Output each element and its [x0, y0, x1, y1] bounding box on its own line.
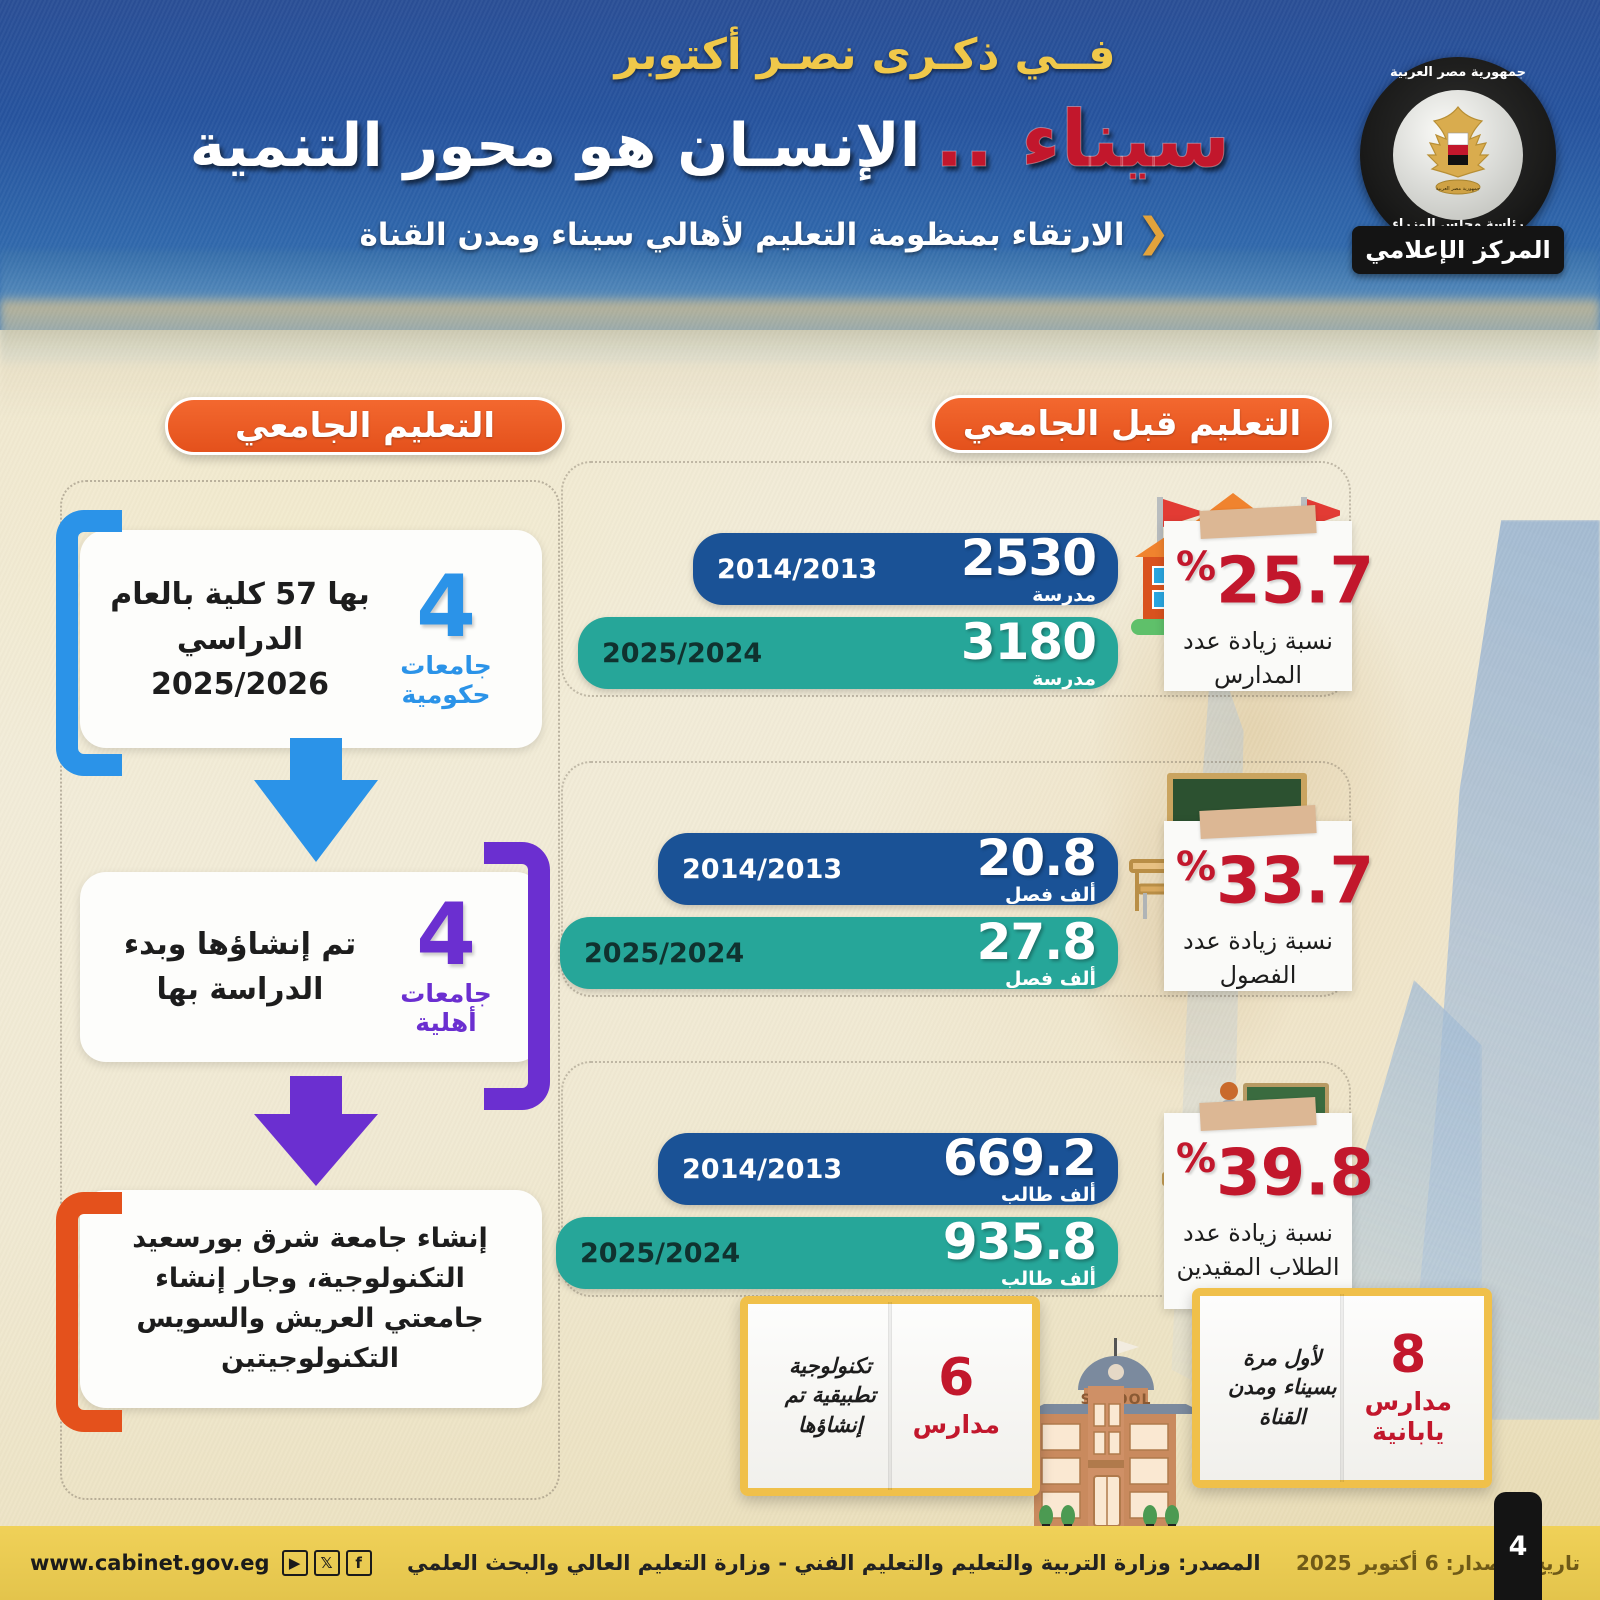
stat-group-schools: 2530 مدرسة 2014/2013 3180 مدرسة 2025/202… [550, 455, 1350, 705]
students-new-unit: ألف طالب [943, 1270, 1096, 1289]
title-sub-text: الإنسـان هو محور التنمية [190, 111, 921, 181]
header-title: سيناء .. الإنسـان هو محور التنمية [150, 95, 1270, 185]
footer: تاريخ الإصدار: 6 أكتوبر 2025 المصدر: وزا… [0, 1526, 1600, 1600]
arrow-down-purple-icon [254, 1114, 378, 1186]
chevron-left-icon: ❮ [1136, 213, 1170, 253]
schools-percent-number: 25.7 [1216, 544, 1374, 618]
students-percent-symbol: % [1176, 1136, 1216, 1182]
technological-schools-number-group: 6 مدارس [897, 1352, 1016, 1440]
page-number-tab: 4 [1494, 1492, 1542, 1600]
classrooms-new-unit: ألف فصل [977, 970, 1096, 989]
bracket-blue [56, 510, 122, 776]
schools-new-value: 3180 [961, 617, 1096, 667]
tape-icon [1199, 1097, 1316, 1131]
classrooms-new-value-group: 27.8 ألف فصل [977, 917, 1096, 989]
x-twitter-icon[interactable]: 𝕏 [314, 1550, 340, 1576]
header-eyebrow: فــي ذكـرى نصـر أكتوبر [330, 30, 1400, 80]
book-card-japanese-schools[interactable]: 8 مدارس يابانية لأول مرة بسيناء ومدن الق… [1192, 1288, 1492, 1488]
classrooms-percent-number: 33.7 [1216, 844, 1374, 918]
book-card-technological-schools[interactable]: 6 مدارس تكنولوجية تطبيقية تم إنشاؤها [740, 1296, 1040, 1496]
government-universities-stack: 4 جامعاتحكومية [376, 569, 516, 710]
page-number: 4 [1509, 1531, 1528, 1562]
classrooms-new-year: 2025/2024 [584, 938, 744, 969]
technological-schools-number: 6 [897, 1352, 1016, 1404]
students-percent-card: %39.8 نسبة زيادة عدد الطلاب المقيدين بال… [1164, 1113, 1352, 1309]
classrooms-bar-new: 27.8 ألف فصل 2025/2024 [560, 917, 1118, 989]
title-main-text: سيناء .. [934, 95, 1230, 185]
classrooms-old-value: 20.8 [977, 833, 1096, 883]
badge-pre-university-education[interactable]: التعليم قبل الجامعي [932, 395, 1332, 453]
university-card-government[interactable]: 4 جامعاتحكومية بها 57 كلية بالعام الدراس… [80, 530, 542, 748]
schools-new-value-group: 3180 مدرسة [961, 617, 1096, 689]
japanese-schools-number: 8 [1349, 1329, 1468, 1381]
students-bar-old: 669.2 ألف طالب 2014/2013 [658, 1133, 1118, 1205]
bracket-orange [56, 1192, 122, 1432]
schools-percent-symbol: % [1176, 544, 1216, 590]
footer-source: المصدر: وزارة التربية والتعليم والتعليم … [407, 1551, 1261, 1575]
schools-bar-new: 3180 مدرسة 2025/2024 [578, 617, 1118, 689]
footer-right-group: f 𝕏 ▶ www.cabinet.gov.eg [30, 1550, 372, 1576]
students-new-year: 2025/2024 [580, 1238, 740, 1269]
government-universities-text: بها 57 كلية بالعام الدراسي 2025/2026 [98, 572, 376, 707]
students-old-value-group: 669.2 ألف طالب [943, 1133, 1096, 1205]
tape-icon [1199, 505, 1316, 539]
government-universities-label: جامعاتحكومية [376, 652, 516, 710]
stat-group-students: 669.2 ألف طالب 2014/2013 935.8 ألف طالب … [550, 1055, 1350, 1305]
classrooms-percent-value: %33.7 [1176, 847, 1340, 913]
stat-group-classrooms: 20.8 ألف فصل 2014/2013 27.8 ألف فصل 2025… [550, 755, 1350, 1005]
arrow-down-blue-icon [254, 780, 378, 862]
footer-website-url[interactable]: www.cabinet.gov.eg [30, 1551, 270, 1575]
schools-old-unit: مدرسة [961, 586, 1096, 605]
social-links[interactable]: f 𝕏 ▶ [282, 1550, 372, 1576]
cabinet-logo: جمهورية مصر العربية رئاسة مجلس الوزراء ج… [1338, 55, 1578, 280]
book-spine [1340, 1294, 1344, 1482]
schools-bar-old: 2530 مدرسة 2014/2013 [693, 533, 1118, 605]
classrooms-percent-text: نسبة زيادة عدد الفصول [1176, 925, 1340, 992]
students-new-value-group: 935.8 ألف طالب [943, 1217, 1096, 1289]
bracket-purple [484, 842, 550, 1110]
japanese-schools-number-group: 8 مدارس يابانية [1349, 1329, 1468, 1447]
logo-plate: المركز الإعلامي [1352, 226, 1564, 274]
book-spine [888, 1302, 892, 1490]
schools-percent-value: %25.7 [1176, 547, 1340, 613]
subtitle-text: الارتقاء بمنظومة التعليم لأهالي سيناء وم… [359, 217, 1124, 253]
students-old-unit: ألف طالب [943, 1186, 1096, 1205]
schools-new-unit: مدرسة [961, 670, 1096, 689]
technological-universities-text: إنشاء جامعة شرق بورسعيد التكنولوجية، وجا… [98, 1219, 516, 1379]
schools-old-value-group: 2530 مدرسة [961, 533, 1096, 605]
facebook-icon[interactable]: f [346, 1550, 372, 1576]
svg-text:جمهورية مصر العربية: جمهورية مصر العربية [1436, 186, 1480, 192]
classrooms-percent-card: %33.7 نسبة زيادة عدد الفصول [1164, 821, 1352, 991]
logo-plate-text: المركز الإعلامي [1365, 236, 1551, 264]
students-percent-number: 39.8 [1216, 1136, 1374, 1210]
eagle-of-saladin-icon: جمهورية مصر العربية [1393, 90, 1523, 220]
header-subtitle: ❮ الارتقاء بمنظومة التعليم لأهالي سيناء … [330, 215, 1170, 255]
schools-percent-card: %25.7 نسبة زيادة عدد المدارس [1164, 521, 1352, 691]
japanese-schools-number-label: مدارس يابانية [1349, 1387, 1468, 1447]
students-bar-new: 935.8 ألف طالب 2025/2024 [556, 1217, 1118, 1289]
schools-old-value: 2530 [961, 533, 1096, 583]
badge-university-education[interactable]: التعليم الجامعي [165, 397, 565, 455]
university-card-technological[interactable]: إنشاء جامعة شرق بورسعيد التكنولوجية، وجا… [80, 1190, 542, 1408]
japanese-schools-description: لأول مرة بسيناء ومدن القناة [1216, 1344, 1349, 1432]
tape-icon [1199, 805, 1316, 839]
university-column: 4 جامعاتحكومية بها 57 كلية بالعام الدراس… [60, 480, 560, 1500]
schools-percent-text: نسبة زيادة عدد المدارس [1176, 625, 1340, 692]
government-universities-number: 4 [376, 569, 516, 646]
students-old-year: 2014/2013 [682, 1154, 842, 1185]
youtube-icon[interactable]: ▶ [282, 1550, 308, 1576]
classrooms-old-year: 2014/2013 [682, 854, 842, 885]
schools-new-year: 2025/2024 [602, 638, 762, 669]
private-universities-text: تم إنشاؤها وبدء الدراسة بها [98, 922, 376, 1012]
classrooms-old-value-group: 20.8 ألف فصل [977, 833, 1096, 905]
schools-old-year: 2014/2013 [717, 554, 877, 585]
classrooms-new-value: 27.8 [977, 917, 1096, 967]
technological-schools-number-label: مدارس [897, 1410, 1016, 1440]
classrooms-percent-symbol: % [1176, 844, 1216, 890]
classrooms-old-unit: ألف فصل [977, 886, 1096, 905]
technological-schools-description: تكنولوجية تطبيقية تم إنشاؤها [764, 1352, 897, 1440]
classrooms-bar-old: 20.8 ألف فصل 2014/2013 [658, 833, 1118, 905]
students-old-value: 669.2 [943, 1133, 1096, 1183]
students-percent-value: %39.8 [1176, 1139, 1340, 1205]
university-card-private[interactable]: 4 جامعاتأهلية تم إنشاؤها وبدء الدراسة به… [80, 872, 542, 1062]
students-new-value: 935.8 [943, 1217, 1096, 1267]
